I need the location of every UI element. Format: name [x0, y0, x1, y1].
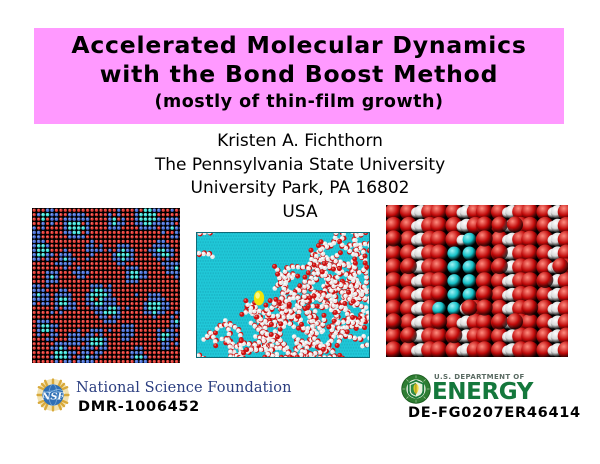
- nsf-globe-icon: NSF: [36, 378, 70, 412]
- sponsor-nsf: NSF National Science Foundation DMR-1006…: [36, 377, 266, 423]
- title-line-2: with the Bond Boost Method: [100, 60, 498, 89]
- title-line-1: Accelerated Molecular Dynamics: [71, 31, 526, 60]
- title-subtitle: (mostly of thin-film growth): [155, 89, 444, 115]
- doe-grant-number: DE-FG0207ER46414: [408, 405, 581, 421]
- sponsor-doe: U.S. DEPARTMENT OF ENERGY DE-FG0207ER464…: [401, 372, 600, 424]
- city-state-zip: University Park, PA 16802: [0, 177, 600, 201]
- institution-name: The Pennsylvania State University: [0, 154, 600, 178]
- nsf-wordmark: National Science Foundation: [76, 380, 292, 396]
- figure-molecular-island: [196, 232, 370, 358]
- molecular-island-image: [196, 232, 370, 358]
- nsf-grant-number: DMR-1006452: [78, 399, 200, 415]
- lattice-islands-image: [32, 208, 180, 363]
- figure-sphere-lattice: [386, 205, 568, 357]
- author-name: Kristen A. Fichthorn: [0, 130, 600, 154]
- figure-lattice-islands: [32, 208, 180, 363]
- doe-wordmark: ENERGY: [432, 381, 533, 404]
- title-banner: Accelerated Molecular Dynamics with the …: [34, 28, 564, 124]
- sphere-lattice-image: [386, 205, 568, 357]
- doe-seal-icon: [401, 374, 431, 404]
